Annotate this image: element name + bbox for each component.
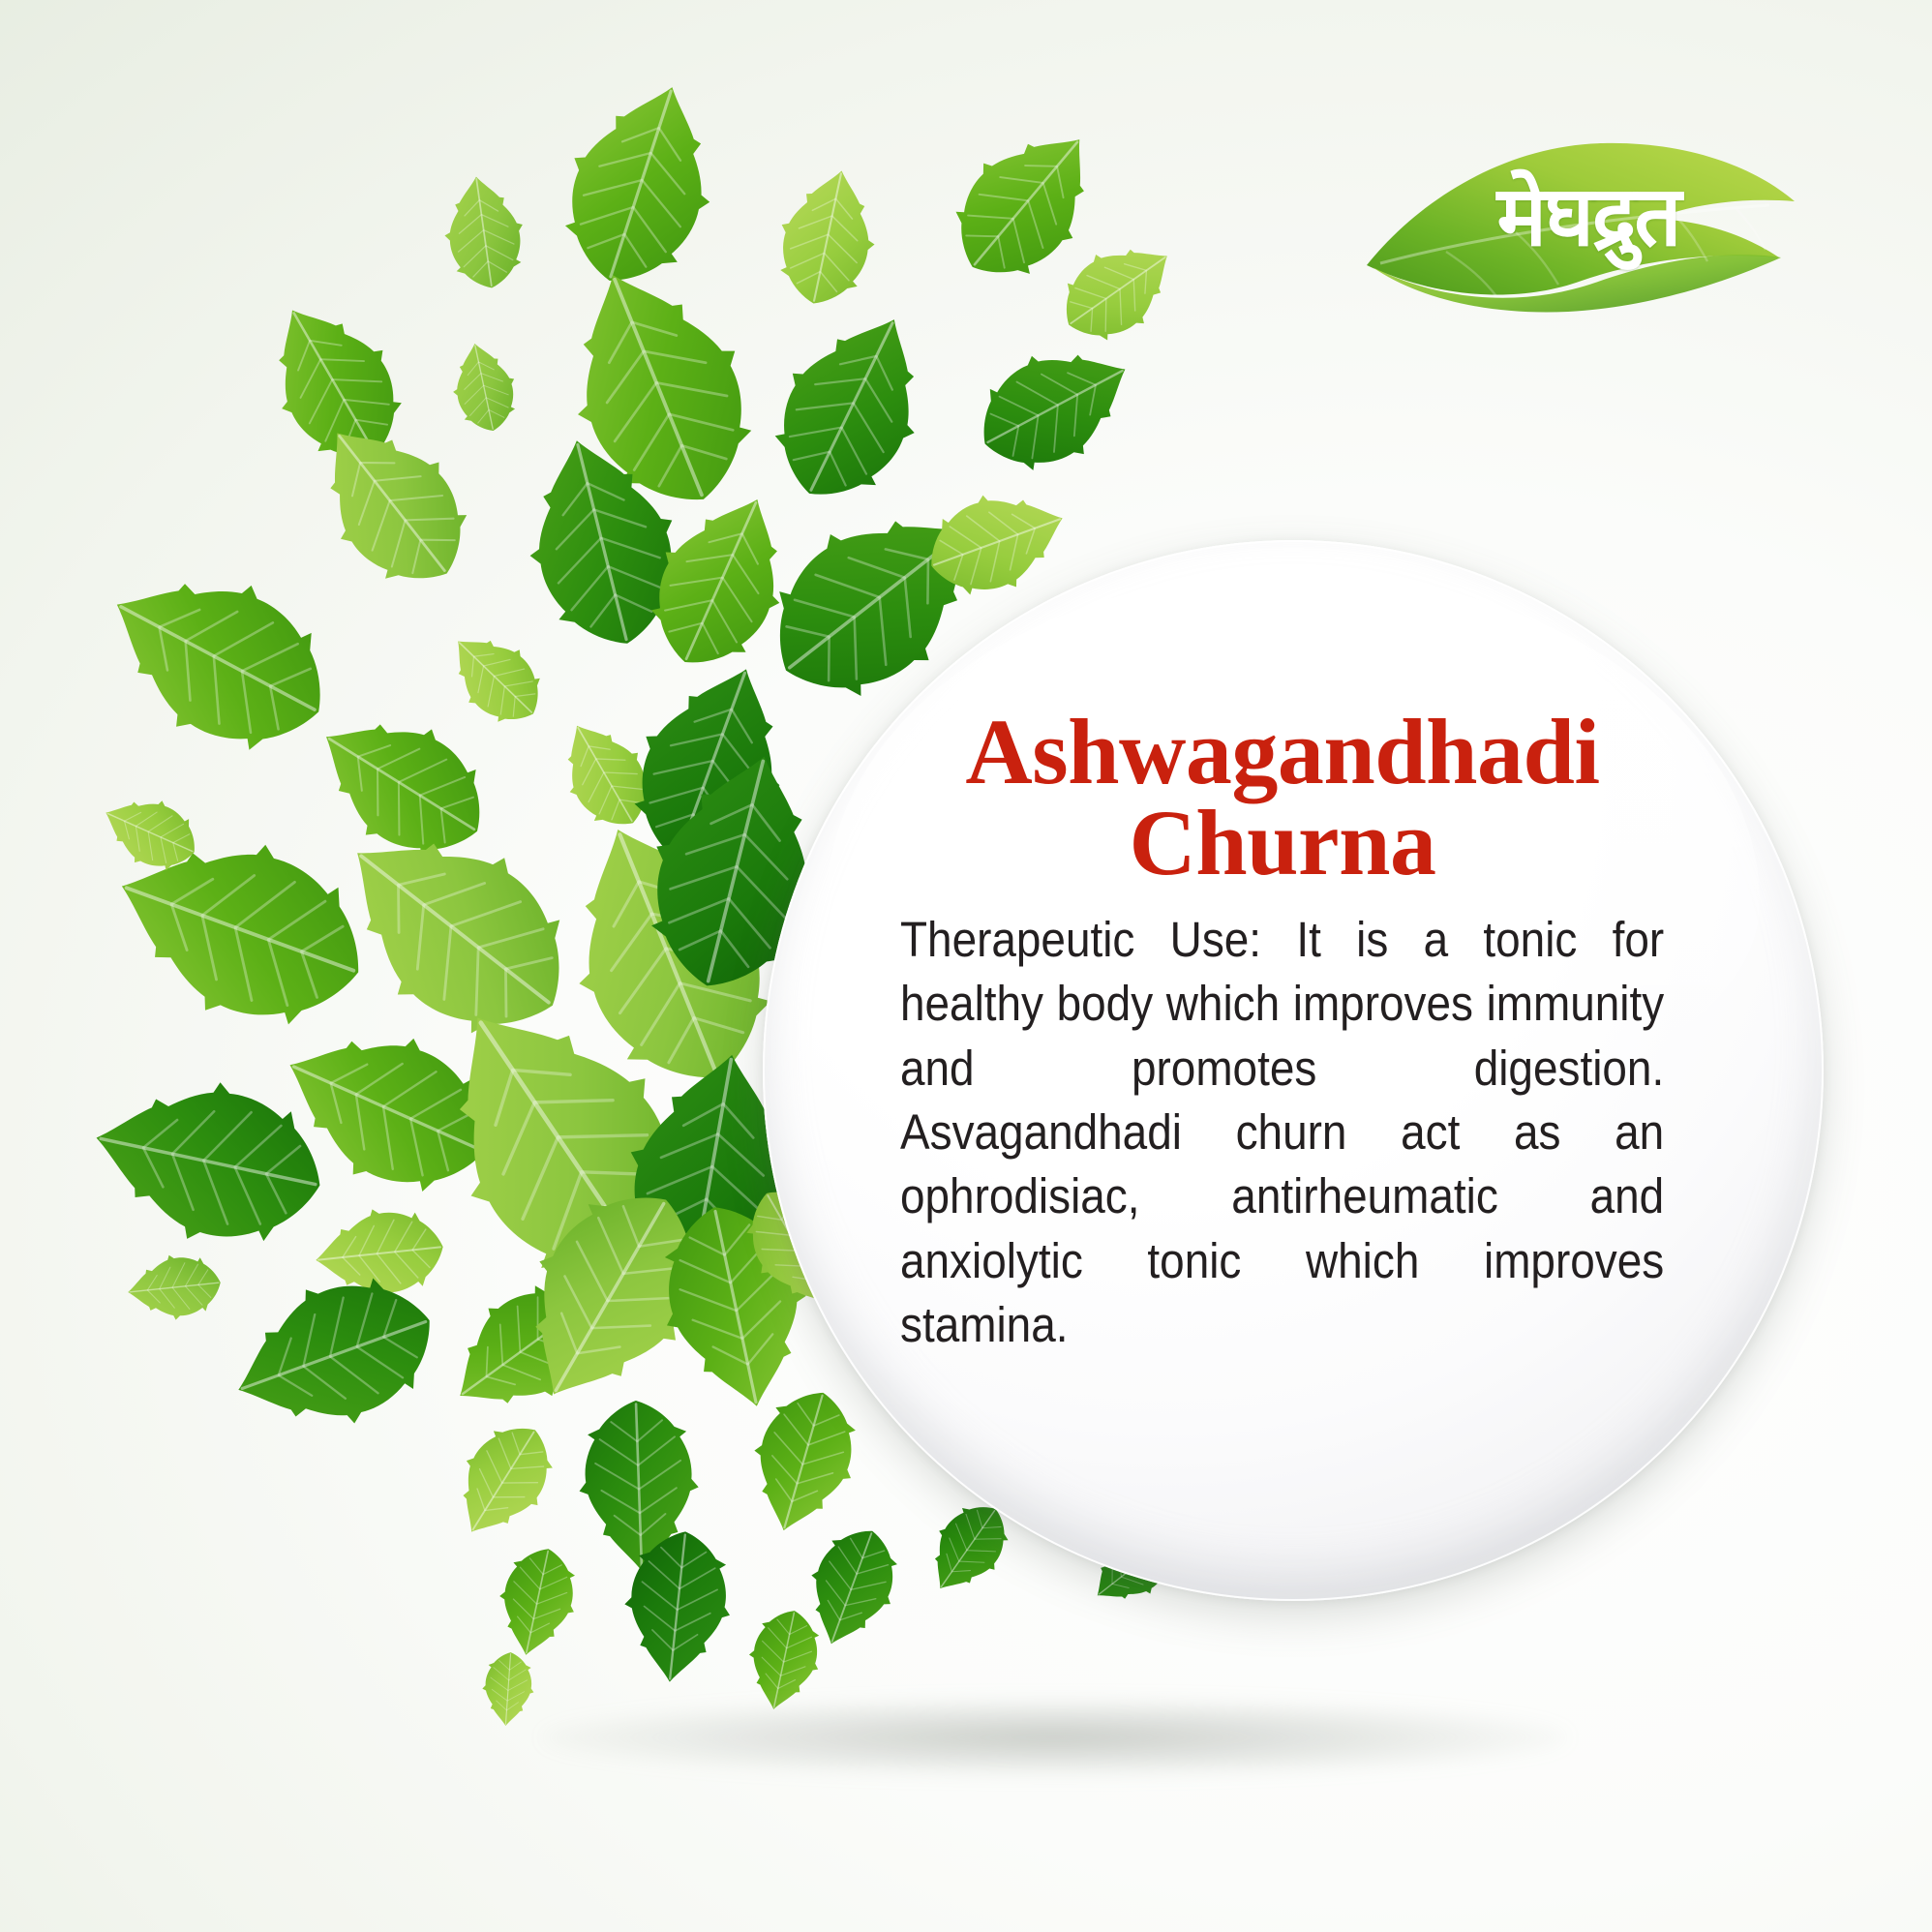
poster-canvas: Ashwagandhadi Churna Therapeutic Use: It… xyxy=(0,0,1932,1932)
badge-content: Ashwagandhadi Churna Therapeutic Use: It… xyxy=(900,707,1665,1357)
leaf xyxy=(79,534,356,783)
product-title: Ashwagandhadi Churna xyxy=(900,707,1665,889)
leaf xyxy=(436,1407,570,1554)
leaf xyxy=(433,615,558,740)
leaf xyxy=(125,1251,224,1325)
leaf-icon xyxy=(1353,105,1806,327)
leaf xyxy=(542,65,740,302)
leaf xyxy=(1044,222,1191,359)
leaf xyxy=(959,320,1152,493)
leaf xyxy=(748,289,955,523)
product-description: Therapeutic Use: It is a tonic for healt… xyxy=(900,908,1664,1357)
leaf xyxy=(444,337,524,437)
leaf xyxy=(740,1604,830,1717)
brand-logo[interactable]: मेघद्रुत xyxy=(1353,105,1806,327)
leaf xyxy=(768,161,889,313)
leaf xyxy=(438,171,531,293)
badge-drop-shadow xyxy=(542,1699,1568,1776)
leaf xyxy=(489,1541,586,1663)
leaf xyxy=(214,1253,454,1457)
leaf xyxy=(79,1060,336,1264)
leaf xyxy=(480,1650,536,1728)
